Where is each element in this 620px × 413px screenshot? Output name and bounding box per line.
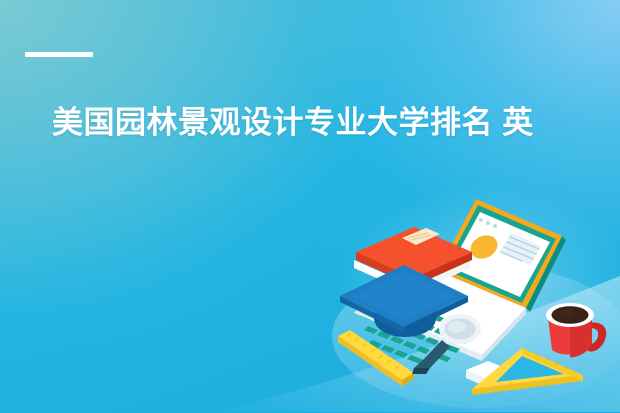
article-cover-banner: 美国园林景观设计专业大学排名 英 [0,0,620,413]
isometric-study-desk-illustration [330,196,620,413]
page-title: 美国园林景观设计专业大学排名 英 [52,104,620,142]
title-accent-rule [25,52,93,57]
